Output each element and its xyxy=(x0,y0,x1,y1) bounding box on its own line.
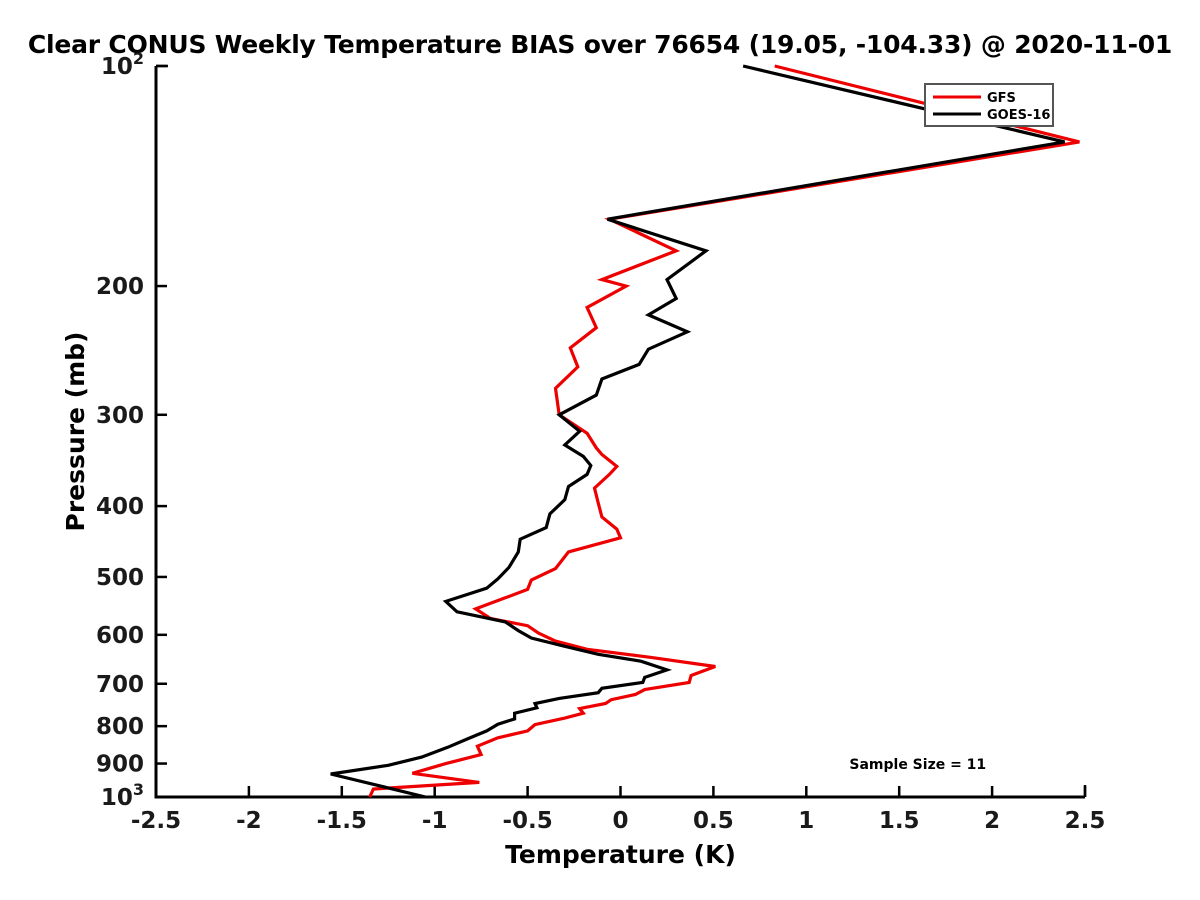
annotation-sample-size: Sample Size = 11 xyxy=(849,757,986,773)
series-line-goes-16 xyxy=(331,66,1065,797)
ytick-label: 103 xyxy=(101,780,144,811)
xtick-label: 0 xyxy=(612,808,628,834)
ytick-label: 500 xyxy=(96,565,144,591)
xtick-label: 1.5 xyxy=(879,808,920,834)
ytick-label: 700 xyxy=(96,672,144,698)
xtick-label: -1 xyxy=(422,808,448,834)
series-line-gfs xyxy=(370,66,1080,797)
xtick-label: -2 xyxy=(236,808,262,834)
ytick-label: 800 xyxy=(96,714,144,740)
y-axis-label: Pressure (mb) xyxy=(61,332,90,532)
ytick-label: 200 xyxy=(96,274,144,300)
ytick-label: 400 xyxy=(96,494,144,520)
legend-label-gfs: GFS xyxy=(987,91,1016,106)
ytick-label: 600 xyxy=(96,623,144,649)
ytick-label: 300 xyxy=(96,403,144,429)
xtick-label: 2 xyxy=(984,808,1000,834)
x-axis-label: Temperature (K) xyxy=(505,840,736,869)
legend-label-goes-16: GOES-16 xyxy=(987,108,1050,123)
figure-canvas: Clear CONUS Weekly Temperature BIAS over… xyxy=(0,0,1200,900)
xtick-label: 0.5 xyxy=(693,808,734,834)
xtick-label: -2.5 xyxy=(131,808,181,834)
axis-frame xyxy=(156,66,1085,797)
ytick-label: 900 xyxy=(96,752,144,778)
xtick-label: -0.5 xyxy=(502,808,552,834)
xtick-label: 2.5 xyxy=(1065,808,1106,834)
ytick-label: 102 xyxy=(101,49,144,80)
xtick-label: 1 xyxy=(798,808,814,834)
chart-plot: -2.5-2-1.5-1-0.500.511.522.5102200300400… xyxy=(0,0,1200,900)
xtick-label: -1.5 xyxy=(317,808,367,834)
